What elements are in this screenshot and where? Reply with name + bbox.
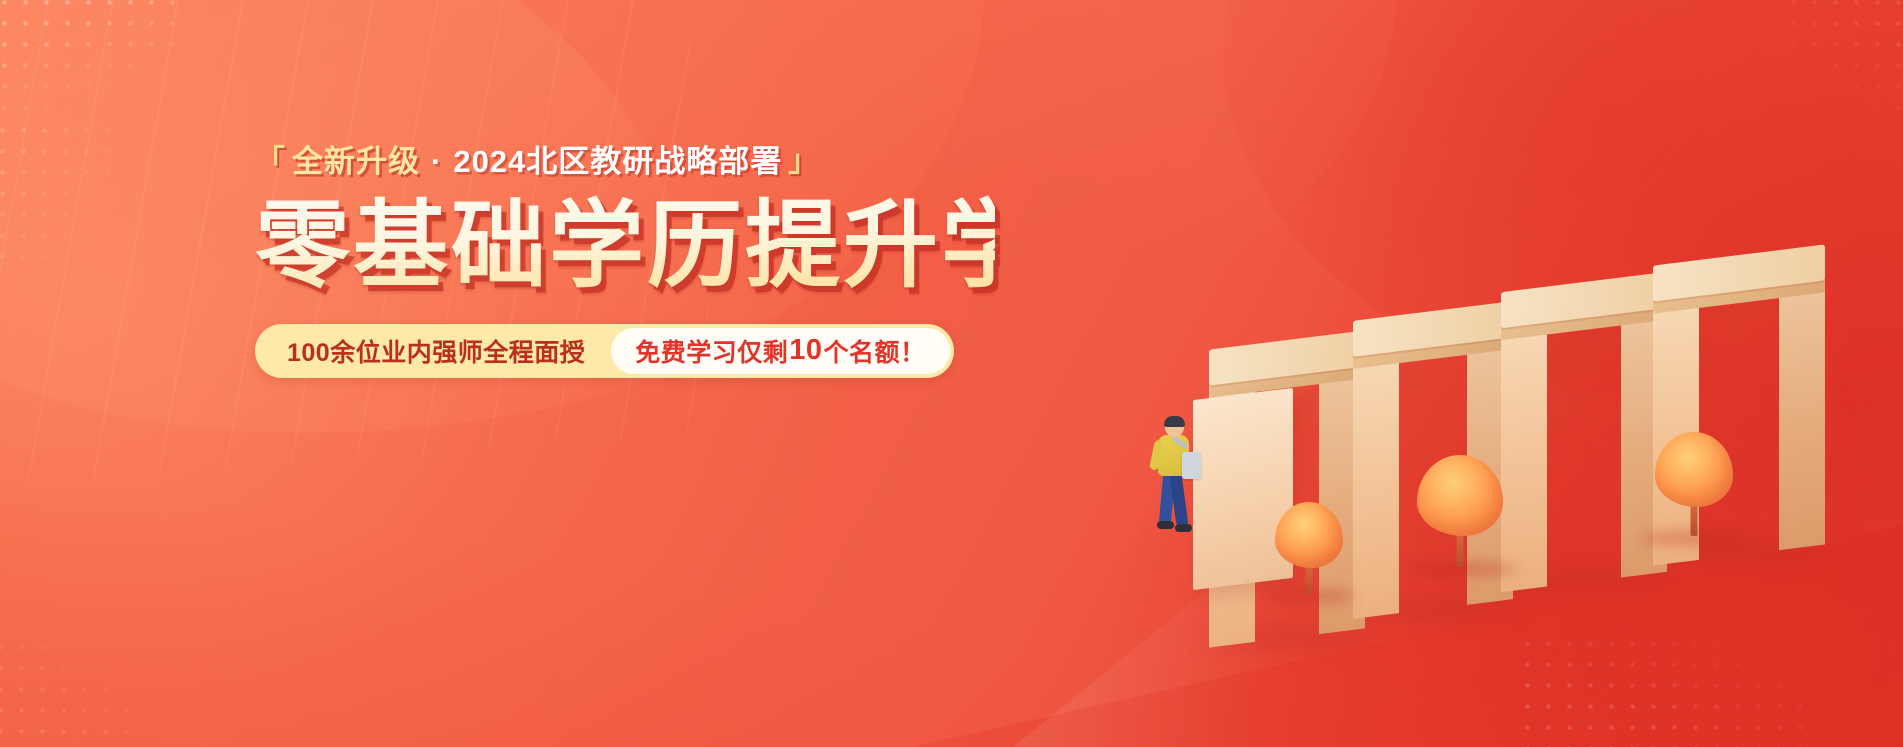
banner-headline: 零基础学历提升学霸班	[255, 195, 995, 298]
bracket-open-icon: 「	[255, 147, 286, 177]
arch-leg-right	[1779, 288, 1825, 550]
figure-backpack	[1182, 452, 1201, 479]
walking-student-figure	[1145, 418, 1203, 542]
pill-teachers: 100余位业内强师全程面授	[259, 324, 611, 378]
pill-seats-prefix: 免费学习仅剩	[635, 333, 788, 369]
highlight-pill-group: 100余位业内强师全程面授 免费学习仅剩 10 个名额！	[255, 324, 954, 378]
tree-trunk	[1457, 533, 1464, 567]
tree-crown	[1417, 455, 1503, 536]
tree-right	[1655, 432, 1733, 536]
figure-shoe-left	[1157, 521, 1174, 529]
promo-banner: 「 全新升级 · 2024北区教研战略部署 」 零基础学历提升学霸班 100余位…	[0, 0, 1903, 747]
tree-middle	[1417, 455, 1503, 567]
figure-leg-right	[1169, 473, 1188, 526]
halftone-dots-mid-left	[0, 120, 124, 270]
subtitle-highlight: 全新升级	[292, 146, 420, 177]
pill-seats-suffix: 个名额！	[824, 333, 926, 369]
bracket-close-icon: 」	[788, 147, 819, 177]
subtitle-separator: ·	[420, 146, 453, 177]
figure-hair	[1164, 416, 1185, 427]
tree-crown	[1655, 432, 1733, 507]
halftone-dots-top-left	[0, 0, 184, 110]
halftone-dots-bottom-left	[0, 637, 140, 747]
banner-subtitle: 「 全新升级 · 2024北区教研战略部署 」	[255, 146, 995, 177]
pill-seats-count: 10	[788, 334, 823, 367]
arch-inner-shade	[1547, 321, 1621, 586]
copy-block: 「 全新升级 · 2024北区教研战略部署 」 零基础学历提升学霸班 100余位…	[255, 146, 995, 378]
book-arch-2	[1501, 272, 1667, 592]
tree-trunk	[1691, 505, 1698, 536]
figure-shoe-right	[1175, 524, 1192, 532]
arch-leg-left	[1501, 331, 1547, 593]
illustration	[1143, 0, 1903, 747]
subtitle-rest: 2024北区教研战略部署	[453, 146, 782, 177]
pill-seats-remaining[interactable]: 免费学习仅剩 10 个名额！	[611, 328, 949, 374]
